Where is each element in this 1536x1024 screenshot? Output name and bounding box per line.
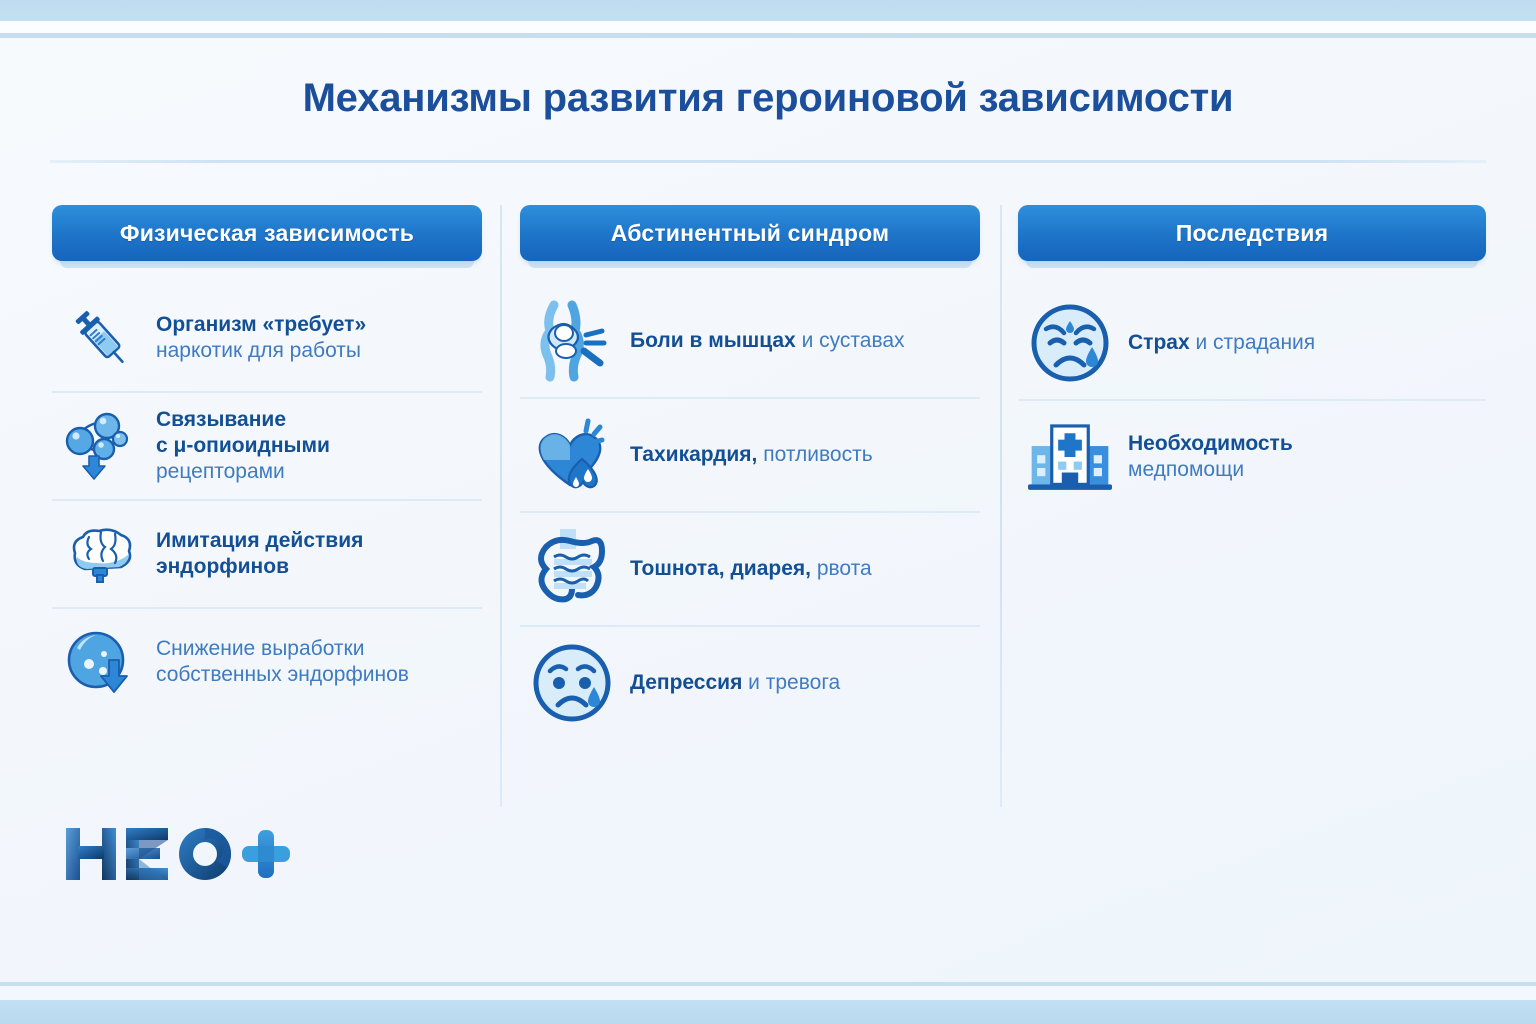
list-item[interactable]: Страх и страдания bbox=[1018, 287, 1486, 399]
list-item-bold: Боли в мышцах bbox=[630, 329, 796, 352]
column-withdrawal-syndrome: Абстинентный синдром bbox=[520, 205, 980, 739]
list-item-bold-2: эндорфинов bbox=[156, 554, 363, 580]
list-item-text: Боли в мышцах и суставах bbox=[630, 328, 905, 354]
list-item[interactable]: Снижение выработки собственных эндорфино… bbox=[52, 607, 482, 715]
list-item-bold: Депрессия bbox=[630, 671, 742, 694]
list-item-text: Организм «требует» наркотик для работы bbox=[156, 312, 366, 364]
list-item-regular: и суставах bbox=[796, 329, 905, 352]
column-items-consequences: Страх и страдания bbox=[1018, 287, 1486, 513]
list-item-text: Необходимость медпомощи bbox=[1128, 431, 1293, 483]
list-item[interactable]: Необходимость медпомощи bbox=[1018, 399, 1486, 513]
list-item-bold: Тошнота, диарея, bbox=[630, 557, 811, 580]
brain-icon bbox=[62, 515, 140, 593]
top-white-band bbox=[0, 21, 1536, 33]
column-physical-dependence: Физическая зависимость bbox=[52, 205, 482, 715]
list-item-regular: наркотик для работы bbox=[156, 338, 366, 364]
bottom-decorative-band bbox=[0, 1000, 1536, 1024]
list-item-regular-2: собственных эндорфинов bbox=[156, 662, 409, 688]
list-item[interactable]: Организм «требует» наркотик для работы bbox=[52, 285, 482, 391]
list-item[interactable]: Тахикардия, потливость bbox=[520, 397, 980, 511]
column-items-physical-dependence: Организм «требует» наркотик для работы bbox=[52, 285, 482, 715]
column-header-physical-dependence[interactable]: Физическая зависимость bbox=[52, 205, 482, 261]
list-item-bold: Имитация действия bbox=[156, 528, 363, 554]
list-item-bold: Тахикардия, bbox=[630, 443, 757, 466]
list-item-text: Связывание с μ-опиоидными рецепторами bbox=[156, 407, 330, 485]
list-item-text: Депрессия и тревога bbox=[630, 670, 840, 696]
list-item-bold: Необходимость bbox=[1128, 431, 1293, 457]
list-item[interactable]: Тошнота, диарея, рвота bbox=[520, 511, 980, 625]
knee-joint-pain-icon bbox=[530, 299, 614, 383]
column-header-label: Последствия bbox=[1176, 220, 1328, 247]
column-header-label: Физическая зависимость bbox=[120, 220, 414, 247]
column-header-label: Абстинентный синдром bbox=[611, 220, 890, 247]
list-item-regular: медпомощи bbox=[1128, 457, 1293, 483]
list-item-text: Тошнота, диарея, рвота bbox=[630, 556, 872, 582]
list-item-text: Имитация действия эндорфинов bbox=[156, 528, 363, 580]
list-item-bold: Страх bbox=[1128, 331, 1190, 354]
list-item-regular: рецепторами bbox=[156, 459, 330, 485]
columns-container: Физическая зависимость bbox=[0, 205, 1536, 825]
bottom-white-band bbox=[0, 986, 1536, 1000]
title-divider-rule bbox=[50, 160, 1486, 163]
list-item[interactable]: Депрессия и тревога bbox=[520, 625, 980, 739]
top-decorative-band bbox=[0, 0, 1536, 21]
column-consequences: Последствия bbox=[1018, 205, 1486, 513]
page-title: Механизмы развития героиновой зависимост… bbox=[0, 76, 1536, 121]
endorphin-decrease-icon bbox=[62, 623, 140, 701]
list-item-regular: Снижение выработки bbox=[156, 636, 409, 662]
list-item[interactable]: Имитация действия эндорфинов bbox=[52, 499, 482, 607]
list-item-text: Страх и страдания bbox=[1128, 330, 1315, 356]
heart-sweat-icon bbox=[530, 413, 614, 497]
list-item-regular: потливость bbox=[757, 443, 872, 466]
molecule-receptor-icon bbox=[62, 407, 140, 485]
list-item[interactable]: Боли в мышцах и суставах bbox=[520, 285, 980, 397]
column-items-withdrawal-syndrome: Боли в мышцах и суставах bbox=[520, 285, 980, 739]
intestines-icon bbox=[530, 527, 614, 611]
sad-face-icon bbox=[530, 641, 614, 725]
crying-face-icon bbox=[1028, 301, 1112, 385]
column-header-consequences[interactable]: Последствия bbox=[1018, 205, 1486, 261]
brand-logo bbox=[62, 818, 302, 888]
column-divider-1 bbox=[500, 205, 502, 807]
hospital-icon bbox=[1028, 415, 1112, 499]
column-header-withdrawal-syndrome[interactable]: Абстинентный синдром bbox=[520, 205, 980, 261]
list-item-bold: Организм «требует» bbox=[156, 312, 366, 338]
list-item-regular: рвота bbox=[811, 557, 872, 580]
column-divider-2 bbox=[1000, 205, 1002, 807]
list-item-text: Тахикардия, потливость bbox=[630, 442, 873, 468]
list-item-bold: Связывание bbox=[156, 407, 330, 433]
syringe-icon bbox=[62, 299, 140, 377]
list-item-regular: и страдания bbox=[1190, 331, 1316, 354]
list-item-regular: и тревога bbox=[742, 671, 840, 694]
list-item-bold-2: с μ-опиоидными bbox=[156, 433, 330, 459]
list-item[interactable]: Связывание с μ-опиоидными рецепторами bbox=[52, 391, 482, 499]
list-item-text: Снижение выработки собственных эндорфино… bbox=[156, 636, 409, 688]
